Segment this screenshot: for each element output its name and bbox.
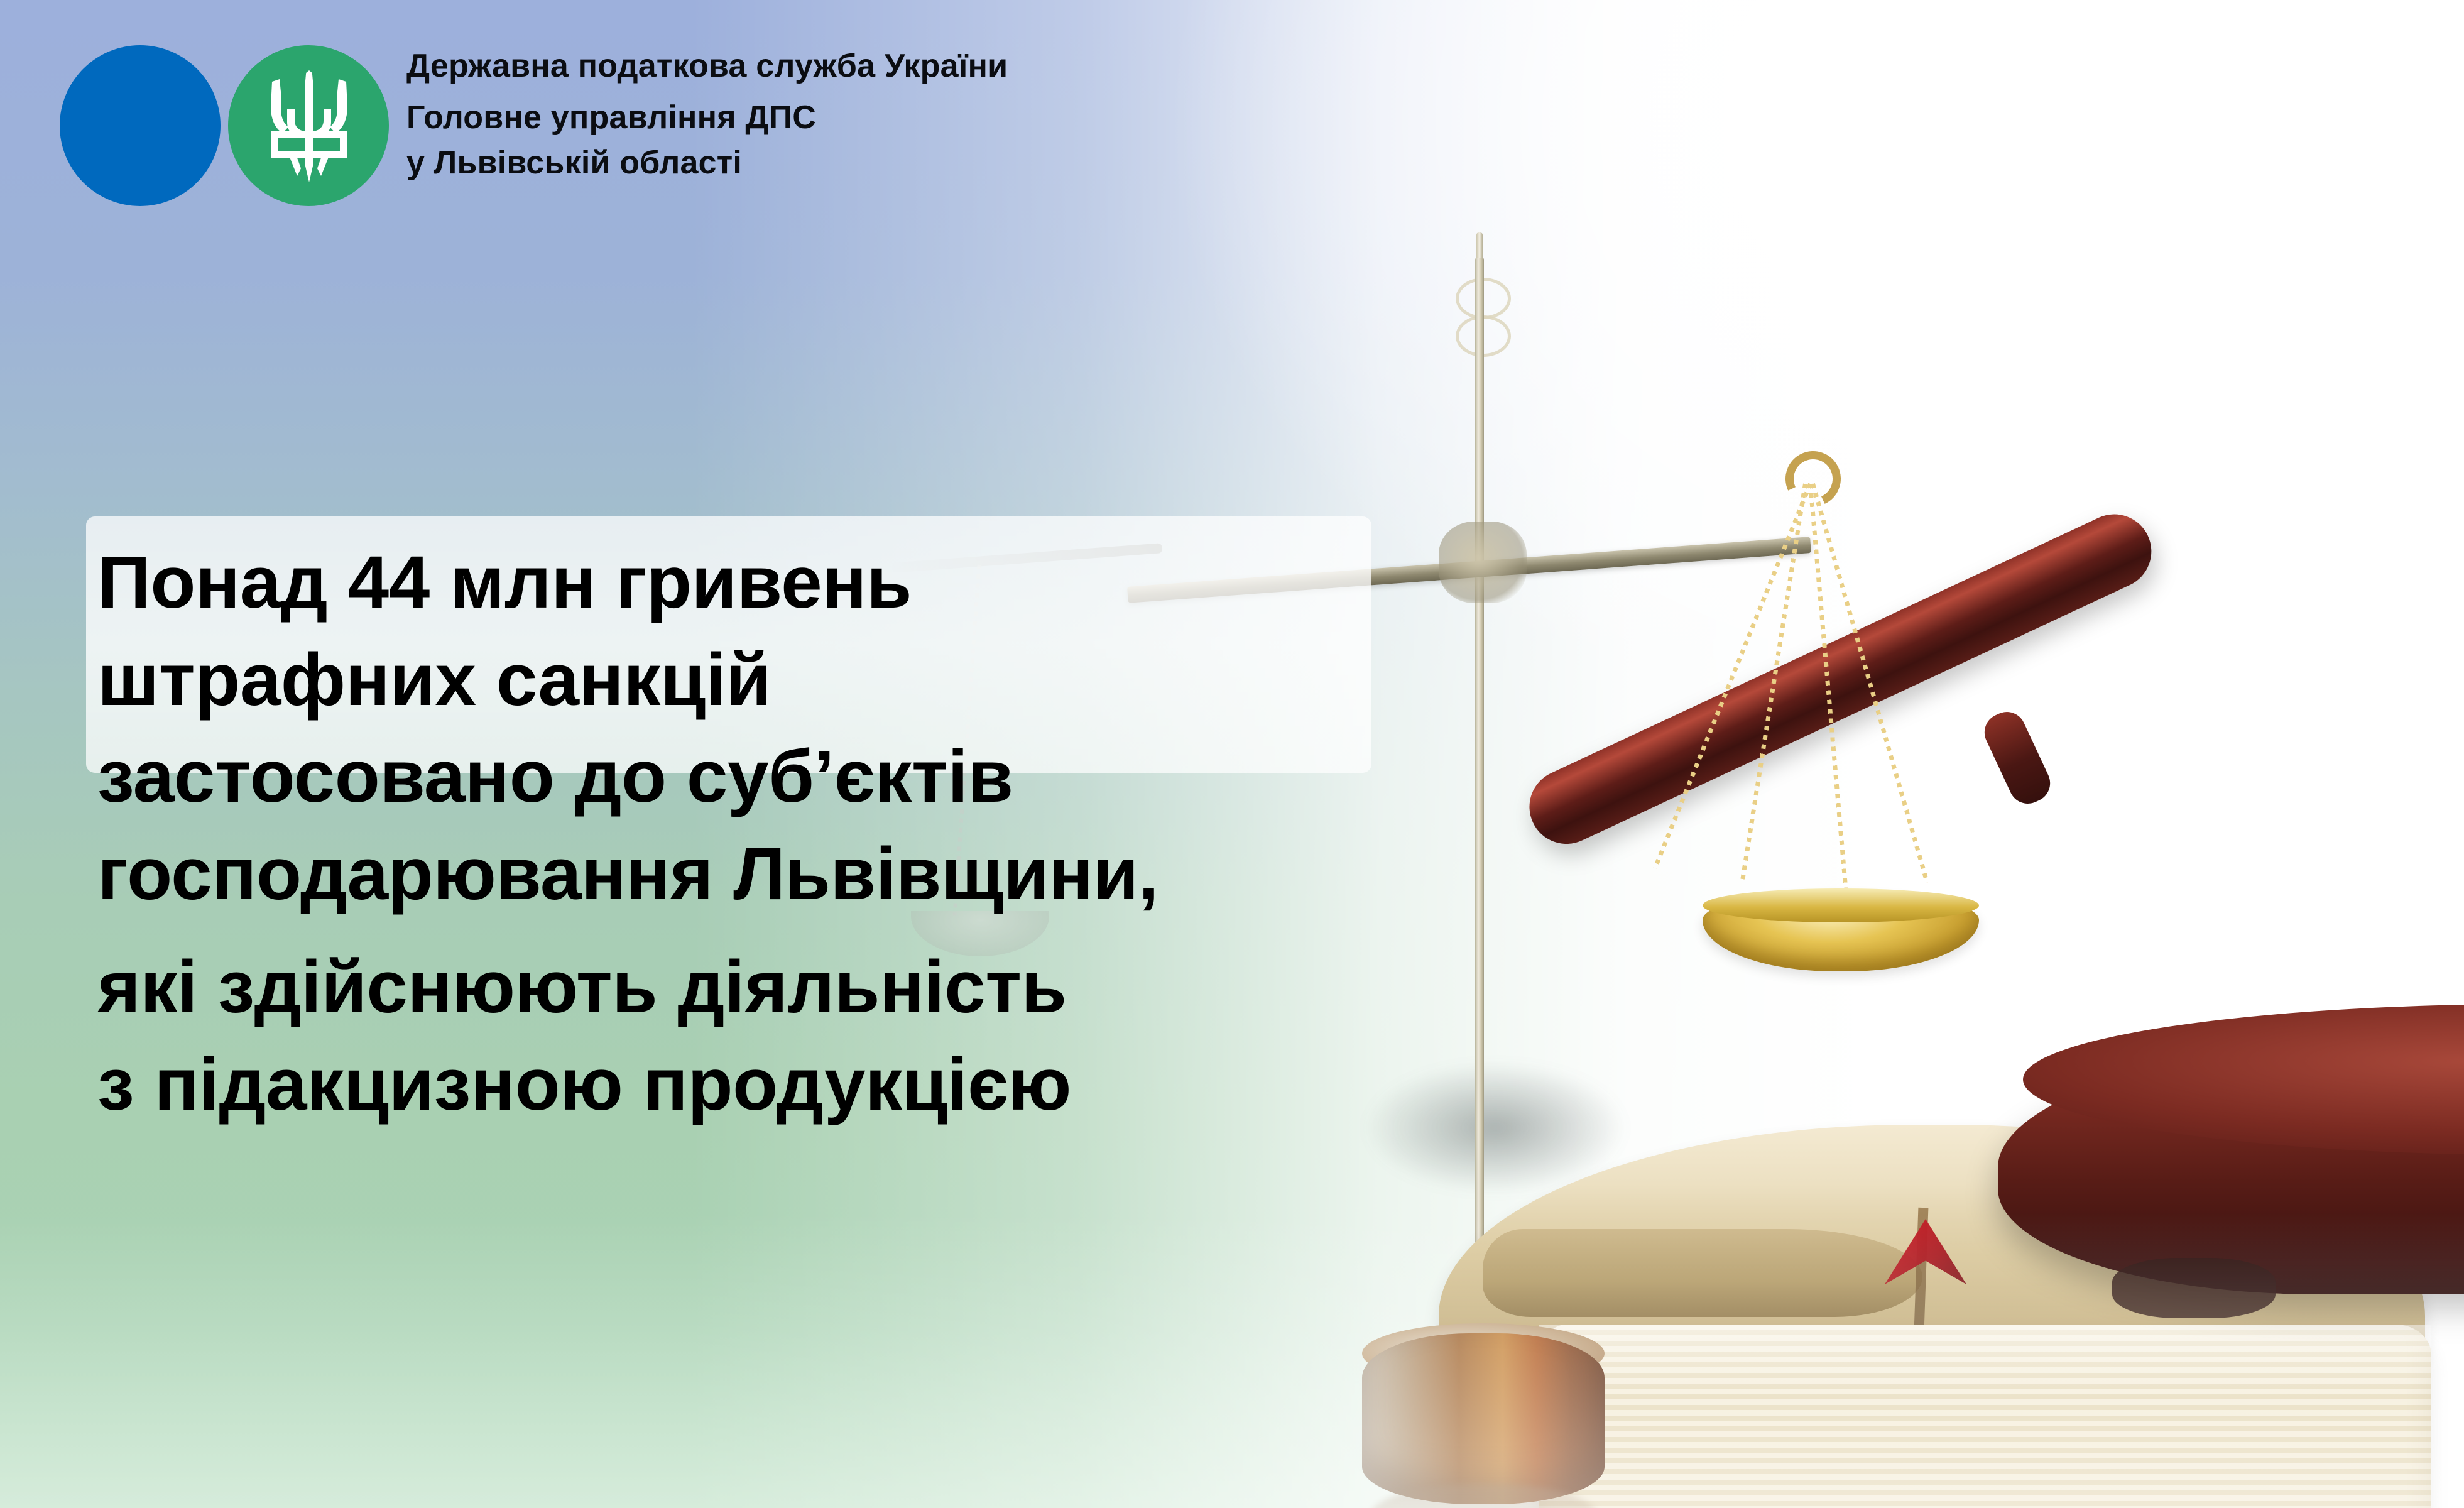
branding-header: Державна податкова служба України Головн… [60, 38, 1008, 207]
headline-line-4: господарювання Львівщини, [97, 826, 1542, 923]
agency-region: у Львівській області [406, 141, 1008, 186]
scales-pan-right-rim [1703, 888, 1979, 922]
floor-reflection-sheen [0, 1213, 2464, 1508]
headline-spacer [97, 922, 1542, 939]
headline-line-1: Понад 44 млн гривень [97, 534, 1542, 631]
headline-text: Понад 44 млн гривень штрафних санкцій за… [97, 534, 1542, 1133]
dps-logo [60, 38, 393, 207]
agency-department: Головне управління ДПС [406, 96, 1008, 141]
headline-line-5: які здійснюють діяльність [97, 939, 1542, 1036]
logo-blue-circle [60, 45, 221, 206]
poster-canvas: Державна податкова служба України Головн… [0, 0, 2464, 1508]
ukraine-trident-icon [262, 70, 356, 182]
headline-line-6: з підакцизною продукцією [97, 1036, 1542, 1134]
headline-line-2: штрафних санкцій [97, 631, 1542, 729]
headline-line-3: застосовано до суб’єктів [97, 728, 1542, 826]
branding-text: Державна податкова служба України Головн… [406, 38, 1008, 185]
agency-name: Державна податкова служба України [406, 44, 1008, 89]
gavel-handle-collar [1978, 706, 2056, 810]
